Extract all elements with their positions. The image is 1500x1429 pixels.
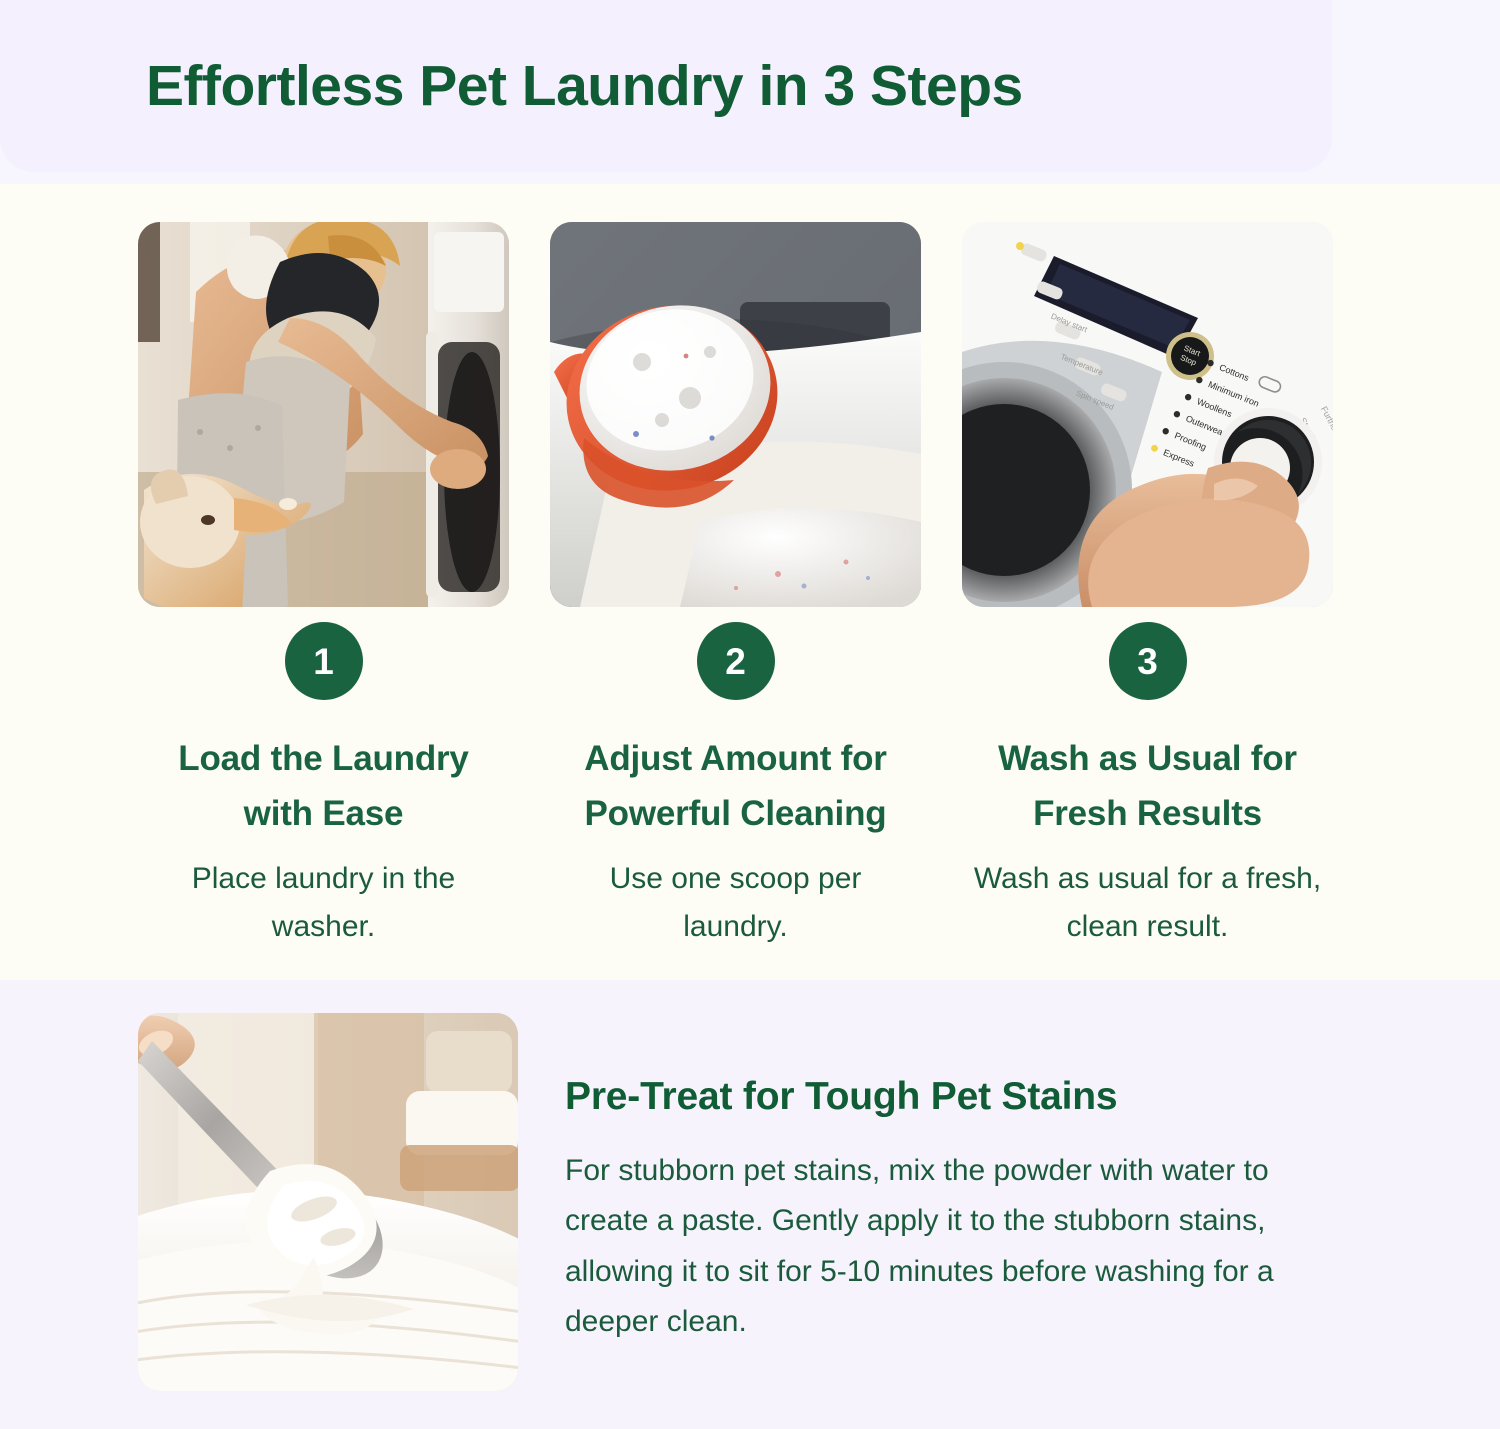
header-band: Effortless Pet Laundry in 3 Steps	[0, 0, 1500, 184]
pre-treat-photo	[138, 1013, 518, 1391]
step-3: 3 Wash as Usual for Fresh Results Wash a…	[962, 622, 1333, 951]
pre-treat-heading: Pre-Treat for Tough Pet Stains	[565, 1075, 1355, 1119]
child-loading-washer-with-dog-icon	[138, 222, 509, 607]
step-2-heading: Adjust Amount for Powerful Cleaning	[556, 731, 916, 842]
step-photos-row: Start Stop Delay start Temperature Spin …	[138, 222, 1343, 607]
page-title: Effortless Pet Laundry in 3 Steps	[146, 53, 1023, 119]
step-1-body: Place laundry in the washer.	[164, 855, 484, 951]
detergent-scoop-powder-icon	[550, 222, 921, 607]
step-2-number-badge: 2	[697, 622, 775, 700]
step-1-number-badge: 1	[285, 622, 363, 700]
step-1-heading: Load the Laundry with Ease	[154, 731, 494, 842]
hand-turning-washer-dial-icon: Start Stop Delay start Temperature Spin …	[962, 222, 1333, 607]
step-3-number-badge: 3	[1109, 622, 1187, 700]
pre-treat-section: Pre-Treat for Tough Pet Stains For stubb…	[0, 980, 1500, 1429]
step-3-photo: Start Stop Delay start Temperature Spin …	[962, 222, 1333, 607]
step-3-body: Wash as usual for a fresh, clean result.	[962, 855, 1333, 951]
steps-section: Start Stop Delay start Temperature Spin …	[0, 184, 1500, 980]
step-2-photo	[550, 222, 921, 607]
pre-treat-body: For stubborn pet stains, mix the powder …	[565, 1146, 1355, 1348]
header-card: Effortless Pet Laundry in 3 Steps	[0, 0, 1332, 172]
step-text-row: 1 Load the Laundry with Ease Place laund…	[138, 622, 1343, 951]
step-2-body: Use one scoop per laundry.	[606, 855, 866, 951]
step-1: 1 Load the Laundry with Ease Place laund…	[138, 622, 509, 951]
pre-treat-text: Pre-Treat for Tough Pet Stains For stubb…	[565, 1013, 1355, 1348]
step-3-heading: Wash as Usual for Fresh Results	[975, 731, 1320, 842]
spoon-of-paste-on-white-towel-icon	[138, 1013, 518, 1391]
pre-treat-inner: Pre-Treat for Tough Pet Stains For stubb…	[138, 1013, 1355, 1391]
step-1-photo	[138, 222, 509, 607]
step-2: 2 Adjust Amount for Powerful Cleaning Us…	[550, 622, 921, 951]
